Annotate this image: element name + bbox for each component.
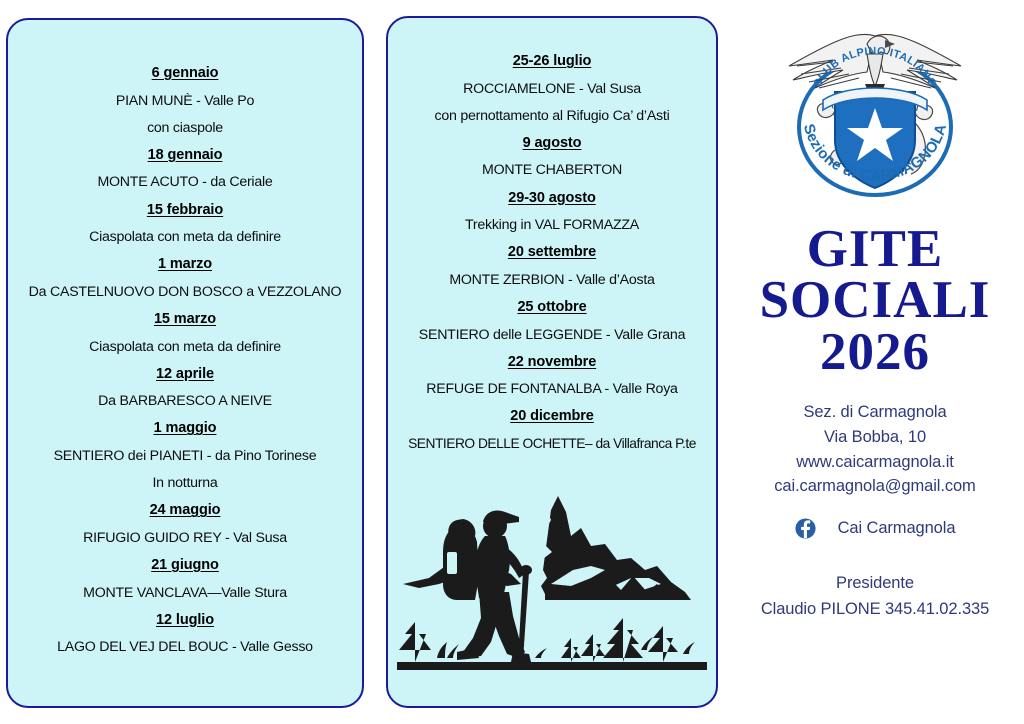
contact-website[interactable]: www.caicarmagnola.it bbox=[774, 450, 975, 475]
cai-carmagnola-logo: CLUB ALPINO ITALIANO Sezione di CARMAGNO… bbox=[775, 22, 975, 218]
trip-date: 22 novembre bbox=[508, 355, 596, 370]
trip-date: 20 settembre bbox=[508, 245, 596, 260]
title-line-3: 2026 bbox=[760, 327, 991, 378]
trip-date: 9 agosto bbox=[523, 136, 582, 151]
trip-description: MONTE ACUTO - da Ceriale bbox=[97, 175, 272, 189]
trip-description: SENTIERO DELLE OCHETTE– da Villafranca P… bbox=[408, 437, 696, 451]
hiker-mountain-illustration bbox=[395, 466, 709, 694]
trip-description: MONTE ZERBION - Valle d’Aosta bbox=[449, 273, 654, 287]
trip-date: 15 marzo bbox=[154, 312, 216, 327]
contact-address: Via Bobba, 10 bbox=[774, 425, 975, 450]
trip-date: 1 marzo bbox=[158, 257, 212, 272]
title-line-1: GITE bbox=[760, 224, 991, 275]
trip-date: 21 giugno bbox=[151, 558, 219, 573]
brochure-title: GITE SOCIALI 2026 bbox=[760, 224, 991, 378]
trip-description: Da BARBARESCO A NEIVE bbox=[98, 394, 272, 408]
brochure-cover-column: CLUB ALPINO ITALIANO Sezione di CARMAGNO… bbox=[726, 0, 1024, 724]
facebook-row[interactable]: Cai Carmagnola bbox=[795, 518, 956, 539]
trip-description: SENTIERO dei PIANETI - da Pino Torinese bbox=[54, 449, 317, 463]
president-role: Presidente bbox=[761, 571, 989, 597]
trip-date: 25-26 luglio bbox=[513, 54, 592, 69]
trip-description: ROCCIAMELONE - Val Susa bbox=[463, 82, 641, 96]
trip-description: PIAN MUNÈ - Valle Po bbox=[116, 94, 254, 108]
title-line-2: SOCIALI bbox=[760, 275, 991, 326]
trip-description: Da CASTELNUOVO DON BOSCO a VEZZOLANO bbox=[29, 285, 342, 299]
trip-date: 1 maggio bbox=[154, 421, 217, 436]
brochure-page: 6 gennaioPIAN MUNÈ - Valle Pocon ciaspol… bbox=[0, 0, 1024, 724]
trip-description: LAGO DEL VEJ DEL BOUC - Valle Gesso bbox=[57, 640, 313, 654]
trip-description: MONTE VANCLAVA—Valle Stura bbox=[83, 586, 287, 600]
contact-block: Sez. di Carmagnola Via Bobba, 10 www.cai… bbox=[774, 400, 975, 499]
trip-description: con ciaspole bbox=[147, 121, 223, 135]
trip-description: SENTIERO delle LEGGENDE - Valle Grana bbox=[419, 328, 685, 342]
facebook-icon[interactable] bbox=[795, 518, 816, 539]
trip-description: Ciaspolata con meta da definire bbox=[89, 340, 281, 354]
trip-date: 24 maggio bbox=[150, 503, 221, 518]
schedule-panel-middle: 25-26 luglioROCCIAMELONE - Val Susacon p… bbox=[386, 16, 718, 708]
contact-email[interactable]: cai.carmagnola@gmail.com bbox=[774, 474, 975, 499]
facebook-label[interactable]: Cai Carmagnola bbox=[838, 519, 956, 538]
trip-date: 29-30 agosto bbox=[508, 191, 595, 206]
trip-date: 15 febbraio bbox=[147, 203, 223, 218]
trip-date: 25 ottobre bbox=[517, 300, 586, 315]
president-block: Presidente Claudio PILONE 345.41.02.335 bbox=[761, 571, 989, 622]
trip-description: MONTE CHABERTON bbox=[482, 163, 622, 177]
trip-description: Trekking in VAL FORMAZZA bbox=[465, 218, 639, 232]
president-name-phone: Claudio PILONE 345.41.02.335 bbox=[761, 597, 989, 623]
trip-date: 18 gennaio bbox=[148, 148, 223, 163]
schedule-list-left: 6 gennaioPIAN MUNÈ - Valle Pocon ciaspol… bbox=[8, 20, 362, 706]
trip-date: 20 dicembre bbox=[510, 409, 594, 424]
trip-description: REFUGE DE FONTANALBA - Valle Roya bbox=[426, 382, 677, 396]
trip-date: 6 gennaio bbox=[152, 66, 219, 81]
trip-date: 12 luglio bbox=[156, 613, 214, 628]
trip-description: RIFUGIO GUIDO REY - Val Susa bbox=[83, 531, 287, 545]
schedule-panel-left: 6 gennaioPIAN MUNÈ - Valle Pocon ciaspol… bbox=[6, 18, 364, 708]
trip-date: 12 aprile bbox=[156, 367, 214, 382]
contact-section: Sez. di Carmagnola bbox=[774, 400, 975, 425]
trip-description: In notturna bbox=[152, 476, 217, 490]
trip-description: Ciaspolata con meta da definire bbox=[89, 230, 281, 244]
trip-description: con pernottamento al Rifugio Ca’ d’Asti bbox=[435, 109, 670, 123]
